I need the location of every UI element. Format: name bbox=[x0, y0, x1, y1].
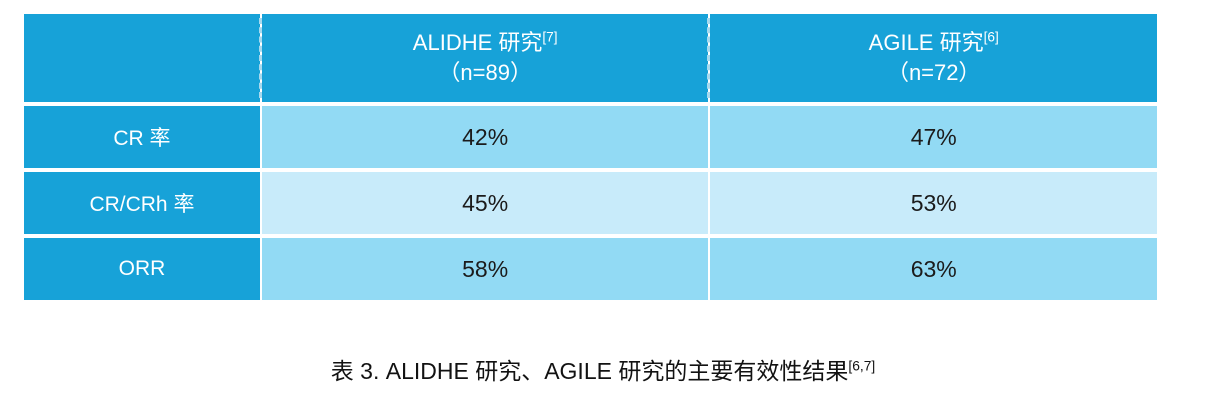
efficacy-results-table-wrapper: ALIDHE 研究[7] （n=89） AGILE 研究[6] （n=72） C… bbox=[24, 14, 1161, 300]
efficacy-results-table: ALIDHE 研究[7] （n=89） AGILE 研究[6] （n=72） C… bbox=[22, 10, 1159, 304]
column-header-alidhe-title: ALIDHE 研究[7] bbox=[268, 28, 703, 58]
column-header-alidhe-name: ALIDHE 研究 bbox=[413, 30, 543, 55]
table-body: CR 率 42% 47% CR/CRh 率 45% 53% ORR 58% 63… bbox=[24, 106, 1157, 300]
column-header-agile-name: AGILE 研究 bbox=[869, 30, 984, 55]
row-label-cr-rate: CR 率 bbox=[24, 106, 260, 168]
table-row: CR/CRh 率 45% 53% bbox=[24, 172, 1157, 234]
table-corner-cell bbox=[24, 14, 260, 102]
column-header-agile: AGILE 研究[6] （n=72） bbox=[710, 14, 1157, 102]
row-label-orr: ORR bbox=[24, 238, 260, 300]
table-header: ALIDHE 研究[7] （n=89） AGILE 研究[6] （n=72） bbox=[24, 14, 1157, 102]
cell-cr-rate-agile: 47% bbox=[710, 106, 1157, 168]
column-header-agile-reference: [6] bbox=[984, 29, 999, 44]
cell-cr-crh-rate-alidhe: 45% bbox=[262, 172, 709, 234]
row-label-cr-crh-rate: CR/CRh 率 bbox=[24, 172, 260, 234]
column-header-agile-title: AGILE 研究[6] bbox=[716, 28, 1151, 58]
cell-cr-crh-rate-agile: 53% bbox=[710, 172, 1157, 234]
column-header-alidhe-sample-size: （n=89） bbox=[268, 58, 703, 88]
table-header-row: ALIDHE 研究[7] （n=89） AGILE 研究[6] （n=72） bbox=[24, 14, 1157, 102]
cell-orr-alidhe: 58% bbox=[262, 238, 709, 300]
cell-orr-agile: 63% bbox=[710, 238, 1157, 300]
table-row: ORR 58% 63% bbox=[24, 238, 1157, 300]
table-row: CR 率 42% 47% bbox=[24, 106, 1157, 168]
table-caption-text: 表 3. ALIDHE 研究、AGILE 研究的主要有效性结果 bbox=[331, 358, 849, 384]
column-header-alidhe: ALIDHE 研究[7] （n=89） bbox=[262, 14, 709, 102]
column-header-agile-sample-size: （n=72） bbox=[716, 58, 1151, 88]
column-header-alidhe-reference: [7] bbox=[542, 29, 557, 44]
table-caption-reference: [6,7] bbox=[848, 358, 875, 373]
table-caption: 表 3. ALIDHE 研究、AGILE 研究的主要有效性结果[6,7] bbox=[0, 352, 1206, 386]
cell-cr-rate-alidhe: 42% bbox=[262, 106, 709, 168]
